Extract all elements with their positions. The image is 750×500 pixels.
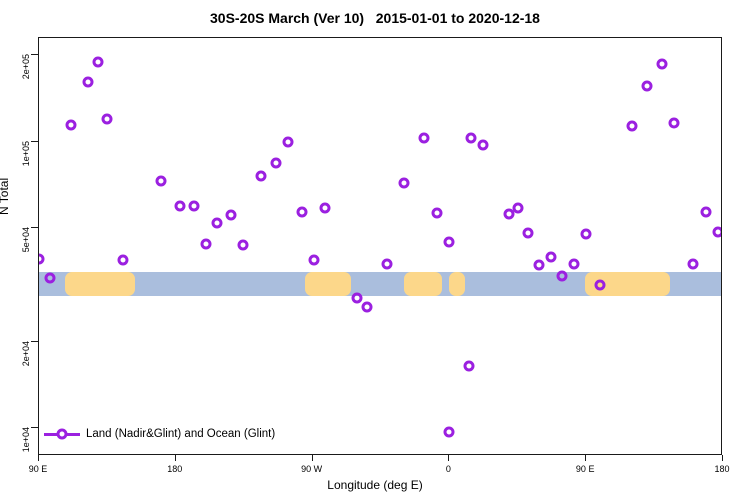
y-tick-mark — [31, 141, 38, 142]
scatter-point — [319, 203, 330, 214]
scatter-point — [117, 255, 128, 266]
x-tick-mark — [448, 455, 449, 461]
scatter-point — [102, 113, 113, 124]
scatter-point — [581, 229, 592, 240]
scatter-point — [93, 57, 104, 68]
scatter-point — [626, 121, 637, 132]
x-tick-mark — [175, 455, 176, 461]
scatter-point — [211, 218, 222, 229]
scatter-point — [65, 120, 76, 131]
scatter-point — [418, 132, 429, 143]
scatter-point — [362, 301, 373, 312]
scatter-point — [523, 228, 534, 239]
y-tick-mark — [31, 341, 38, 342]
x-tick-label: 180 — [714, 464, 729, 474]
scatter-point — [642, 80, 653, 91]
legend-swatch — [44, 427, 80, 441]
scatter-point — [594, 280, 605, 291]
scatter-point — [713, 226, 722, 237]
land-patch — [404, 272, 442, 295]
chart-title: 30S-20S March (Ver 10) 2015-01-01 to 202… — [0, 10, 750, 26]
x-tick-label: 90 W — [301, 464, 322, 474]
scatter-point — [189, 201, 200, 212]
legend-marker-icon — [57, 429, 68, 440]
x-tick-mark — [585, 455, 586, 461]
scatter-point — [44, 272, 55, 283]
x-tick-mark — [38, 455, 39, 461]
legend: Land (Nadir&Glint) and Ocean (Glint) — [38, 424, 275, 444]
x-tick-mark — [312, 455, 313, 461]
x-tick-label: 90 E — [576, 464, 595, 474]
scatter-point — [309, 255, 320, 266]
land-patch — [65, 272, 135, 295]
plot-area — [38, 37, 722, 455]
scatter-point — [398, 177, 409, 188]
scatter-point — [283, 136, 294, 147]
y-tick-mark — [31, 227, 38, 228]
x-tick-label: 0 — [446, 464, 451, 474]
legend-entry-label: Land (Nadir&Glint) and Ocean (Glint) — [86, 428, 275, 440]
scatter-point — [669, 118, 680, 129]
scatter-point — [465, 132, 476, 143]
scatter-point — [38, 253, 45, 264]
y-tick-mark — [31, 54, 38, 55]
scatter-point — [225, 209, 236, 220]
x-tick-mark — [722, 455, 723, 461]
x-tick-label: 180 — [167, 464, 182, 474]
land-patch — [449, 272, 464, 295]
scatter-point — [351, 292, 362, 303]
scatter-point — [546, 252, 557, 263]
scatter-point — [82, 77, 93, 88]
scatter-point — [444, 237, 455, 248]
scatter-point — [382, 258, 393, 269]
scatter-point — [512, 203, 523, 214]
scatter-point — [271, 158, 282, 169]
y-tick-label: 2e+04 — [21, 341, 31, 366]
scatter-point — [155, 175, 166, 186]
scatter-point — [175, 201, 186, 212]
scatter-point — [477, 140, 488, 151]
scatter-point — [569, 258, 580, 269]
scatter-point — [255, 170, 266, 181]
y-tick-label: 1e+05 — [21, 141, 31, 166]
scatter-point — [687, 258, 698, 269]
scatter-point — [296, 206, 307, 217]
y-tick-label: 1e+04 — [21, 427, 31, 452]
scatter-point — [237, 240, 248, 251]
scatter-point — [701, 206, 712, 217]
scatter-point — [201, 238, 212, 249]
scatter-point — [657, 59, 668, 70]
scatter-point — [432, 207, 443, 218]
y-tick-mark — [31, 427, 38, 428]
scatter-point — [464, 360, 475, 371]
surface-type-band — [39, 272, 721, 295]
scatter-point — [534, 260, 545, 271]
y-tick-label: 2e+05 — [21, 54, 31, 79]
scatter-point — [556, 270, 567, 281]
x-tick-label: 90 E — [29, 464, 48, 474]
y-tick-label: 5e+04 — [21, 227, 31, 252]
chart-figure: 30S-20S March (Ver 10) 2015-01-01 to 202… — [0, 0, 750, 500]
y-axis-label: N Total — [0, 178, 11, 215]
scatter-point — [444, 427, 455, 438]
land-patch — [305, 272, 351, 295]
x-axis-label: Longitude (deg E) — [0, 478, 750, 492]
